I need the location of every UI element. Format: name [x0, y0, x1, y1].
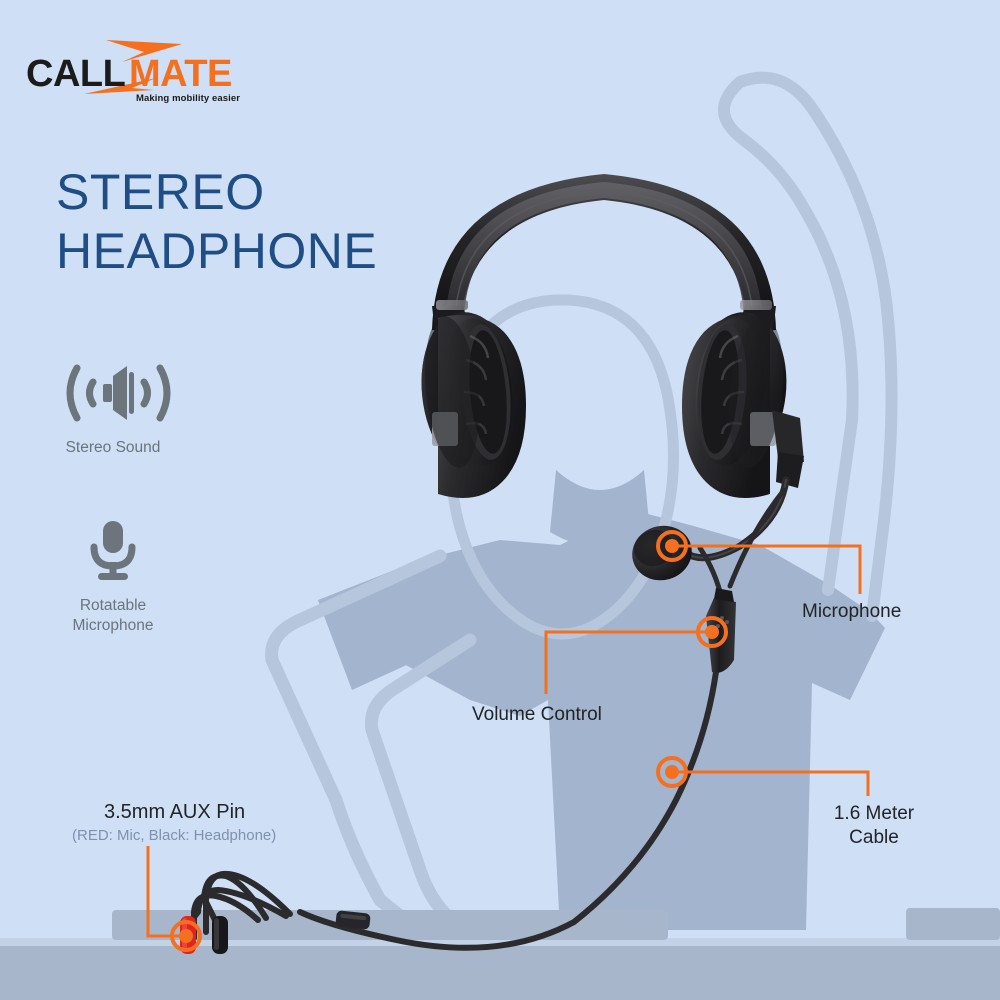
- rotatable-microphone-icon: [18, 518, 208, 584]
- background-scene: [0, 0, 1000, 1000]
- logo-text-call: CALL: [26, 55, 125, 93]
- logo-tagline: Making mobility easier: [136, 93, 240, 104]
- brand-logo: CALL MATE Making mobility easier: [26, 38, 256, 100]
- feature-label-stereo-sound: Stereo Sound: [18, 438, 208, 458]
- stereo-sound-icon: [18, 360, 208, 426]
- callout-label-microphone: Microphone: [802, 600, 901, 624]
- feature-stereo-sound: Stereo Sound: [18, 360, 208, 458]
- callout-label-volume-control: Volume Control: [472, 703, 602, 727]
- feature-rotatable-microphone: Rotatable Microphone: [18, 518, 208, 636]
- page-title: STEREO HEADPHONE: [56, 163, 377, 281]
- background-fill: [0, 0, 1000, 1000]
- logo-text-mate: MATE: [129, 55, 232, 93]
- infographic-canvas: CALL MATE Making mobility easier STEREO …: [0, 0, 1000, 1000]
- callout-label-aux-pin: 3.5mm AUX Pin: [104, 800, 245, 825]
- feature-label-rotatable-microphone: Rotatable Microphone: [18, 596, 208, 636]
- callout-label-cable: 1.6 Meter Cable: [818, 802, 930, 850]
- callout-sublabel-aux-pin: (RED: Mic, Black: Headphone): [72, 827, 276, 844]
